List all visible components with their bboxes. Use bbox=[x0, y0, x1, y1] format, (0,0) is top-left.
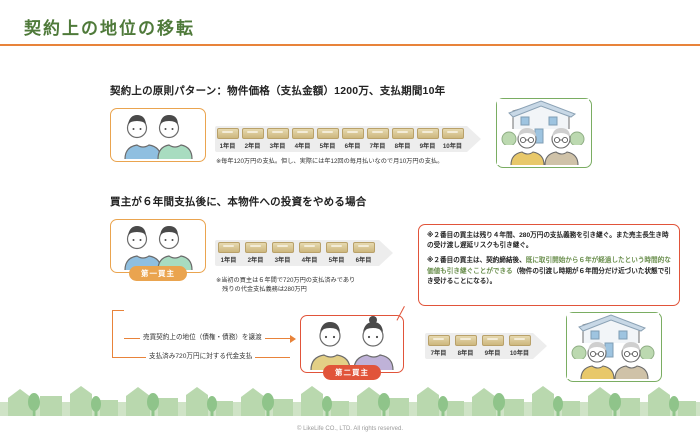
couple-illustration-icon bbox=[111, 220, 203, 270]
coin-icon bbox=[417, 128, 439, 139]
timeline-year-label: 10年目 bbox=[440, 141, 465, 150]
timeline-band-remaining: 7年目8年目9年目10年目 bbox=[425, 333, 547, 359]
timeline-year-label: 5年目 bbox=[323, 255, 350, 264]
timeline-coins-row-1: 1年目2年目3年目4年目5年目6年目7年目8年目9年目10年目 bbox=[215, 126, 481, 152]
note-line-2-a: ※２番目の買主は、契約締結後、 bbox=[427, 257, 526, 264]
footer-townscape bbox=[0, 372, 700, 416]
timeline-year-cell: 9年目 bbox=[479, 335, 506, 357]
timeline-band-10years: 1年目2年目3年目4年目5年目6年目7年目8年目9年目10年目 bbox=[215, 126, 481, 152]
timeline-year-cell: 10年目 bbox=[440, 128, 465, 150]
note-line-2: ※２番目の買主は、契約締結後、既に取引開始から６年が経過したという時間的な価値も… bbox=[427, 256, 671, 287]
timeline-coins-row-2: 1年目2年目3年目4年目5年目6年目 bbox=[215, 240, 393, 266]
coin-icon bbox=[367, 128, 389, 139]
transfer-arrow-head-icon bbox=[290, 335, 296, 343]
timeline-year-cell: 8年目 bbox=[390, 128, 415, 150]
timeline-year-label: 6年目 bbox=[340, 141, 365, 150]
timeline-year-cell: 7年目 bbox=[365, 128, 390, 150]
coin-icon bbox=[509, 335, 531, 346]
timeline-year-cell: 10年目 bbox=[506, 335, 533, 357]
house-with-elderly-couple-icon bbox=[497, 99, 589, 165]
coin-icon bbox=[242, 128, 264, 139]
house-with-elderly-couple-icon bbox=[567, 313, 659, 379]
page-title: 契約上の地位の移転 bbox=[24, 14, 195, 39]
coin-icon bbox=[292, 128, 314, 139]
timeline-year-label: 5年目 bbox=[315, 141, 340, 150]
connector-top-stub bbox=[112, 310, 124, 311]
timeline-year-cell: 2年目 bbox=[240, 128, 265, 150]
timeline-year-label: 1年目 bbox=[215, 255, 242, 264]
coin-icon bbox=[428, 335, 450, 346]
section2-paid-note: ※当初の買主は６年間で720万円の支払済みであり 残りの代金支払義務は280万円 bbox=[216, 276, 426, 295]
section1-note: ※毎年120万円の支払。但し、実際には年12回の毎月払いなので月10万円の支払。 bbox=[216, 157, 496, 166]
transfer-explanation-box: ※２番目の買主は残り４年間、280万円の支払義務を引き継ぐ。また売主長生き時の受… bbox=[418, 224, 680, 306]
timeline-year-label: 8年目 bbox=[452, 348, 479, 357]
couple-illustration-icon bbox=[111, 109, 203, 159]
section2-heading: 買主が６年間支払後に、本物件への投資をやめる場合 bbox=[110, 194, 366, 209]
timeline-year-label: 9年目 bbox=[479, 348, 506, 357]
coin-icon bbox=[317, 128, 339, 139]
first-buyer-badge: 第一買主 bbox=[129, 266, 187, 281]
timeline-year-cell: 6年目 bbox=[350, 242, 377, 264]
house-seller-card-1 bbox=[496, 98, 592, 168]
coin-icon bbox=[245, 242, 267, 253]
coin-icon bbox=[218, 242, 240, 253]
timeline-year-cell: 1年目 bbox=[215, 242, 242, 264]
coin-icon bbox=[217, 128, 239, 139]
coin-icon bbox=[455, 335, 477, 346]
timeline-year-cell: 4年目 bbox=[290, 128, 315, 150]
timeline-year-cell: 7年目 bbox=[425, 335, 452, 357]
transfer-arrow-label: 売買契約上の地位（債権・債務）を譲渡 bbox=[140, 331, 265, 341]
connector-bottom-stub bbox=[112, 357, 124, 358]
timeline-year-label: 6年目 bbox=[350, 255, 377, 264]
timeline-coins-row-3: 7年目8年目9年目10年目 bbox=[425, 333, 547, 359]
timeline-year-label: 10年目 bbox=[506, 348, 533, 357]
connector-vertical bbox=[112, 310, 113, 358]
timeline-year-label: 4年目 bbox=[290, 141, 315, 150]
timeline-year-label: 2年目 bbox=[242, 255, 269, 264]
timeline-year-cell: 3年目 bbox=[265, 128, 290, 150]
coin-icon bbox=[267, 128, 289, 139]
timeline-year-label: 7年目 bbox=[365, 141, 390, 150]
timeline-year-label: 3年目 bbox=[269, 255, 296, 264]
buyer-couple-card-2 bbox=[110, 219, 206, 273]
timeline-year-label: 3年目 bbox=[265, 141, 290, 150]
timeline-year-label: 8年目 bbox=[390, 141, 415, 150]
coin-icon bbox=[299, 242, 321, 253]
timeline-year-label: 7年目 bbox=[425, 348, 452, 357]
timeline-year-label: 9年目 bbox=[415, 141, 440, 150]
townscape-icon bbox=[0, 372, 700, 416]
payment-arrow-label: 支払済み720万円に対する代金支払 bbox=[146, 350, 255, 360]
timeline-year-cell: 5年目 bbox=[315, 128, 340, 150]
timeline-year-cell: 8年目 bbox=[452, 335, 479, 357]
timeline-year-cell: 3年目 bbox=[269, 242, 296, 264]
coin-icon bbox=[442, 128, 464, 139]
coin-icon bbox=[326, 242, 348, 253]
timeline-year-label: 2年目 bbox=[240, 141, 265, 150]
timeline-year-cell: 4年目 bbox=[296, 242, 323, 264]
slide-root: 契約上の地位の移転 契約上の原則パターン：物件価格（支払金額）1200万、支払期… bbox=[0, 0, 700, 438]
timeline-year-cell: 9年目 bbox=[415, 128, 440, 150]
section1-heading: 契約上の原則パターン：物件価格（支払金額）1200万、支払期間10年 bbox=[110, 83, 445, 98]
timeline-year-label: 1年目 bbox=[215, 141, 240, 150]
timeline-year-label: 4年目 bbox=[296, 255, 323, 264]
timeline-year-cell: 2年目 bbox=[242, 242, 269, 264]
note-line-1: ※２番目の買主は残り４年間、280万円の支払義務を引き継ぐ。また売主長生き時の受… bbox=[427, 231, 671, 251]
coin-icon bbox=[482, 335, 504, 346]
timeline-band-6years: 1年目2年目3年目4年目5年目6年目 bbox=[215, 240, 393, 266]
coin-icon bbox=[392, 128, 414, 139]
timeline-year-cell: 1年目 bbox=[215, 128, 240, 150]
timeline-year-cell: 6年目 bbox=[340, 128, 365, 150]
buyer-couple-card-1 bbox=[110, 108, 206, 162]
timeline-year-cell: 5年目 bbox=[323, 242, 350, 264]
title-divider bbox=[0, 44, 700, 46]
copyright-credit: © LikeLife CO., LTD. All rights reserved… bbox=[0, 426, 700, 432]
coin-icon bbox=[272, 242, 294, 253]
coin-icon bbox=[353, 242, 375, 253]
coin-icon bbox=[342, 128, 364, 139]
second-buyer-couple-icon bbox=[301, 316, 401, 370]
